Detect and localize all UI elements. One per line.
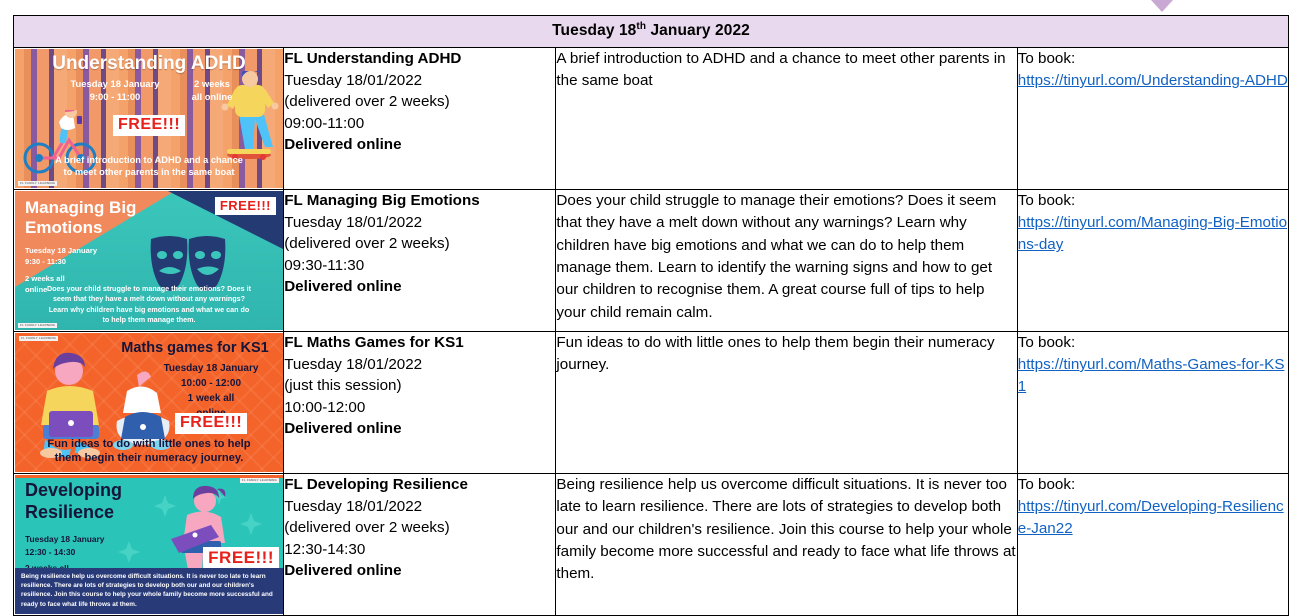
- poster-cell: Managing Big Emotions Tuesday 18 January…: [14, 190, 284, 332]
- booking-block: To book: https://tinyurl.com/Developing-…: [1018, 474, 1288, 540]
- poster-title-line1: Developing: [25, 480, 122, 502]
- poster-developing-resilience: Developing Resilience Tuesday 18 January…: [15, 475, 283, 614]
- poster-title: Managing Big Emotions: [25, 198, 136, 238]
- poster-title: Developing Resilience: [25, 480, 122, 523]
- course-date: Tuesday 18/01/2022: [284, 212, 555, 234]
- table-row: Maths games for KS1 Tuesday 18 January 1…: [14, 332, 1289, 474]
- day-header-prefix: Tuesday 18: [552, 22, 636, 39]
- table-row: Managing Big Emotions Tuesday 18 January…: [14, 190, 1289, 332]
- course-mode: Delivered online: [284, 560, 555, 582]
- poster-brand-chip: FL FAMILY LEARNING: [18, 323, 57, 328]
- purple-triangle-marker: [1151, 0, 1173, 12]
- poster-time: 10:00 - 12:00: [143, 376, 279, 391]
- poster-datetime: Tuesday 18 January 9:00 - 11:00: [57, 78, 173, 104]
- course-info: FL Maths Games for KS1 Tuesday 18/01/202…: [284, 332, 555, 440]
- poster-footer: Being resilience help us overcome diffic…: [15, 568, 283, 614]
- course-description-cell: Does your child struggle to manage their…: [556, 190, 1017, 332]
- course-info: FL Understanding ADHD Tuesday 18/01/2022…: [284, 48, 555, 156]
- poster-understanding-adhd: Understanding ADHD Tuesday 18 January 9:…: [15, 49, 283, 188]
- course-description-cell: Fun ideas to do with little ones to help…: [556, 332, 1017, 474]
- booking-link[interactable]: https://tinyurl.com/Understanding-ADHD: [1018, 70, 1288, 92]
- poster-cell: Maths games for KS1 Tuesday 18 January 1…: [14, 332, 284, 474]
- poster-free-badge: FREE!!!: [175, 413, 247, 434]
- course-description: A brief introduction to ADHD and a chanc…: [556, 48, 1016, 93]
- poster-duration-line1: 2 weeks all: [25, 273, 97, 284]
- poster-footer-line2: to meet other parents in the same boat: [15, 166, 283, 179]
- poster-footer: A brief introduction to ADHD and a chanc…: [15, 154, 283, 179]
- poster-duration-line2: all online: [175, 91, 249, 104]
- poster-date: Tuesday 18 January: [25, 533, 104, 546]
- poster-cell: Developing Resilience Tuesday 18 January…: [14, 474, 284, 616]
- day-header-ordinal: th: [636, 21, 646, 32]
- poster-duration-line1: 1 week all: [143, 391, 279, 406]
- poster-footer: Fun ideas to do with little ones to help…: [15, 437, 283, 466]
- course-info-cell: FL Developing Resilience Tuesday 18/01/2…: [284, 474, 556, 616]
- course-duration: (just this session): [284, 375, 555, 397]
- poster-brand-chip: FL FAMILY LEARNING: [19, 336, 58, 341]
- course-title: FL Understanding ADHD: [284, 48, 555, 70]
- table-row: Understanding ADHD Tuesday 18 January 9:…: [14, 48, 1289, 190]
- poster-brand-chip: FL FAMILY LEARNING: [240, 478, 279, 483]
- course-mode: Delivered online: [284, 276, 555, 298]
- booking-block: To book: https://tinyurl.com/Managing-Bi…: [1018, 190, 1288, 256]
- poster-duration: 2 weeks all online: [175, 78, 249, 104]
- day-header-suffix: January 2022: [646, 22, 750, 39]
- course-duration: (delivered over 2 weeks): [284, 91, 555, 113]
- booking-block: To book: https://tinyurl.com/Understandi…: [1018, 48, 1288, 92]
- course-description: Does your child struggle to manage their…: [556, 190, 1016, 324]
- course-time: 09:30-11:30: [284, 255, 555, 277]
- course-time: 10:00-12:00: [284, 397, 555, 419]
- booking-link[interactable]: https://tinyurl.com/Developing-Resilienc…: [1018, 496, 1288, 540]
- course-mode: Delivered online: [284, 418, 555, 440]
- course-description-cell: A brief introduction to ADHD and a chanc…: [556, 48, 1017, 190]
- booking-link[interactable]: https://tinyurl.com/Maths-Games-for-KS1: [1018, 354, 1288, 398]
- booking-label: To book:: [1018, 474, 1288, 496]
- poster-date: Tuesday 18 January: [25, 245, 97, 256]
- poster-managing-big-emotions: Managing Big Emotions Tuesday 18 January…: [15, 191, 283, 330]
- course-description: Fun ideas to do with little ones to help…: [556, 332, 1016, 377]
- poster-brand-chip: FL FAMILY LEARNING: [18, 181, 57, 186]
- course-title: FL Maths Games for KS1: [284, 332, 555, 354]
- booking-cell: To book: https://tinyurl.com/Developing-…: [1017, 474, 1288, 616]
- course-description-cell: Being resilience help us overcome diffic…: [556, 474, 1017, 616]
- course-schedule-table: Tuesday 18th January 2022: [13, 15, 1289, 616]
- booking-cell: To book: https://tinyurl.com/Understandi…: [1017, 48, 1288, 190]
- poster-footer-line2: them begin their numeracy journey.: [15, 451, 283, 466]
- course-info: FL Managing Big Emotions Tuesday 18/01/2…: [284, 190, 555, 298]
- course-description: Being resilience help us overcome diffic…: [556, 474, 1016, 586]
- course-date: Tuesday 18/01/2022: [284, 496, 555, 518]
- booking-link[interactable]: https://tinyurl.com/Managing-Big-Emotion…: [1018, 212, 1288, 256]
- poster-time: 9:00 - 11:00: [57, 91, 173, 104]
- day-header-cell: Tuesday 18th January 2022: [14, 16, 1289, 48]
- poster-footer-line1: A brief introduction to ADHD and a chanc…: [15, 154, 283, 167]
- poster-datetime: Tuesday 18 January 10:00 - 12:00 1 week …: [143, 361, 279, 421]
- course-date: Tuesday 18/01/2022: [284, 354, 555, 376]
- poster-title: Maths games for KS1: [111, 340, 279, 356]
- poster-footer-line1: Fun ideas to do with little ones to help: [15, 437, 283, 452]
- course-date: Tuesday 18/01/2022: [284, 70, 555, 92]
- poster-maths-games-ks1: Maths games for KS1 Tuesday 18 January 1…: [15, 333, 283, 472]
- poster-date: Tuesday 18 January: [57, 78, 173, 91]
- poster-title-line2: Emotions: [25, 218, 136, 238]
- course-time: 12:30-14:30: [284, 539, 555, 561]
- poster-date: Tuesday 18 January: [143, 361, 279, 376]
- booking-label: To book:: [1018, 332, 1288, 354]
- poster-footer: Does your child struggle to manage their…: [45, 284, 253, 325]
- course-title: FL Managing Big Emotions: [284, 190, 555, 212]
- course-duration: (delivered over 2 weeks): [284, 517, 555, 539]
- course-info-cell: FL Maths Games for KS1 Tuesday 18/01/202…: [284, 332, 556, 474]
- poster-title: Understanding ADHD: [15, 53, 283, 75]
- course-title: FL Developing Resilience: [284, 474, 555, 496]
- table-row: Developing Resilience Tuesday 18 January…: [14, 474, 1289, 616]
- booking-label: To book:: [1018, 190, 1288, 212]
- booking-label: To book:: [1018, 48, 1288, 70]
- course-info-cell: FL Managing Big Emotions Tuesday 18/01/2…: [284, 190, 556, 332]
- poster-free-badge: FREE!!!: [215, 197, 276, 215]
- poster-title-line1: Managing Big: [25, 198, 136, 218]
- booking-block: To book: https://tinyurl.com/Maths-Games…: [1018, 332, 1288, 398]
- poster-duration-line1: 2 weeks: [175, 78, 249, 91]
- poster-free-badge: FREE!!!: [203, 547, 279, 570]
- course-info: FL Developing Resilience Tuesday 18/01/2…: [284, 474, 555, 582]
- poster-free-badge: FREE!!!: [113, 115, 185, 136]
- triangle-shape: [1151, 0, 1173, 12]
- course-mode: Delivered online: [284, 134, 555, 156]
- poster-time: 12:30 - 14:30: [25, 546, 104, 559]
- poster-time: 9:30 - 11:30: [25, 256, 97, 267]
- table-header-row: Tuesday 18th January 2022: [14, 16, 1289, 48]
- poster-title-line2: Resilience: [25, 502, 122, 524]
- course-info-cell: FL Understanding ADHD Tuesday 18/01/2022…: [284, 48, 556, 190]
- course-duration: (delivered over 2 weeks): [284, 233, 555, 255]
- course-time: 09:00-11:00: [284, 113, 555, 135]
- poster-cell: Understanding ADHD Tuesday 18 January 9:…: [14, 48, 284, 190]
- booking-cell: To book: https://tinyurl.com/Maths-Games…: [1017, 332, 1288, 474]
- booking-cell: To book: https://tinyurl.com/Managing-Bi…: [1017, 190, 1288, 332]
